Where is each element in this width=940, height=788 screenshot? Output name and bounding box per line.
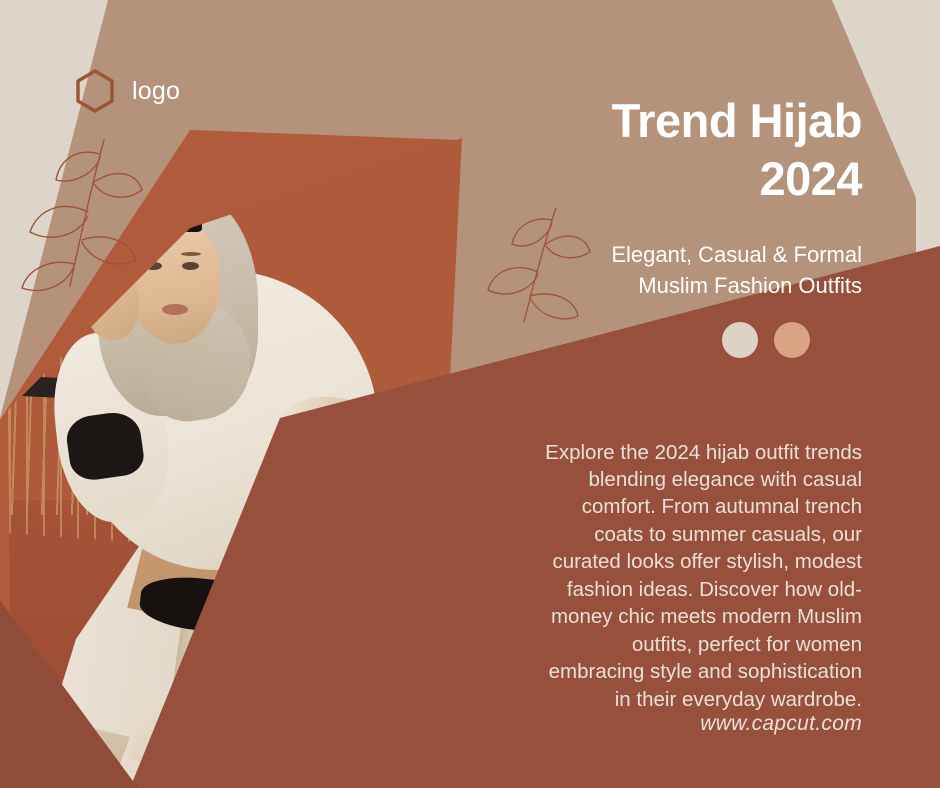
page-title: Trend Hijab 2024 (442, 92, 862, 209)
model-hijab-photo (0, 110, 470, 788)
subtitle-line-1: Elegant, Casual & Formal (442, 240, 862, 271)
swatch-cream (722, 322, 758, 358)
brand-logo[interactable]: logo (72, 68, 180, 114)
subtitle-line-2: Muslim Fashion Outfits (442, 271, 862, 302)
logo-text: logo (132, 79, 180, 104)
palette-swatches (722, 322, 862, 358)
swatch-tan (774, 322, 810, 358)
hexagon-outline-icon (72, 68, 118, 114)
title-line-1: Trend Hijab (442, 92, 862, 150)
website-url: www.capcut.com (700, 712, 862, 736)
poster-canvas: logo Trend Hijab 2024 Elegant, Casual & … (0, 0, 940, 788)
swatch-rust (826, 322, 862, 358)
title-line-2: 2024 (442, 150, 862, 208)
body-paragraph: Explore the 2024 hijab outfit trends ble… (544, 439, 862, 714)
subtitle: Elegant, Casual & Formal Muslim Fashion … (442, 240, 862, 302)
